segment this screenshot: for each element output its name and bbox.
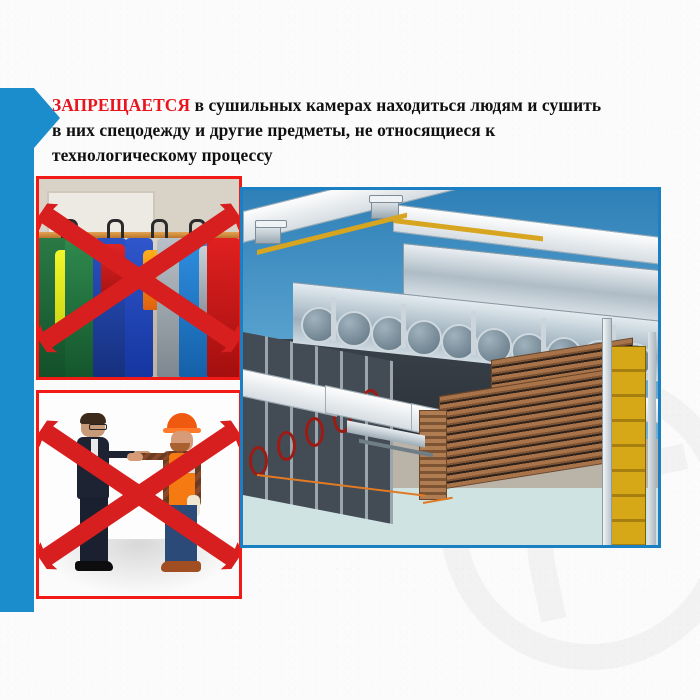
hanger-hook: [151, 219, 168, 238]
hanger-hook: [61, 219, 78, 238]
frame-post: [331, 297, 336, 341]
accent-bar-left: [0, 88, 34, 612]
coat-item: [101, 244, 125, 295]
people-scene: [39, 393, 239, 596]
photo-clothes-prohibited[interactable]: [36, 176, 242, 380]
figure-businessman: [63, 415, 123, 573]
kiln-ring: [249, 446, 268, 476]
roof-vent: [369, 195, 403, 203]
warning-word: ЗАПРЕЩАЕТСЯ: [52, 95, 190, 115]
roof-vent: [255, 226, 281, 244]
caption-line3: технологическому процессу: [52, 145, 273, 165]
frame-post: [471, 311, 476, 355]
photo-drying-chamber[interactable]: [240, 187, 661, 548]
caption-line1-rest: в сушильных камерах находиться людям и с…: [190, 95, 601, 115]
figure-worker: [153, 411, 217, 573]
fan-icon: [406, 320, 442, 356]
caption-line2: в них спецодежду и другие предметы, не о…: [52, 120, 495, 140]
clothes-scene: [39, 179, 239, 377]
photo-people-prohibited[interactable]: [36, 390, 242, 599]
hanger-hook: [107, 219, 124, 238]
hanger-hook: [189, 219, 206, 238]
kiln-door-panel: [610, 346, 646, 547]
coat-item: [207, 238, 241, 377]
door-frame: [602, 318, 612, 547]
coat-item: [65, 238, 95, 377]
roof-vent: [255, 220, 287, 228]
page-title: ЗАПРЕЩАЕТСЯ в сушильных камерах находить…: [52, 93, 688, 168]
frame-post: [401, 304, 406, 348]
kiln-ring: [305, 417, 324, 447]
door-frame-right: [648, 332, 656, 545]
slide-canvas: ЗАПРЕЩАЕТСЯ в сушильных камерах находить…: [0, 0, 700, 700]
